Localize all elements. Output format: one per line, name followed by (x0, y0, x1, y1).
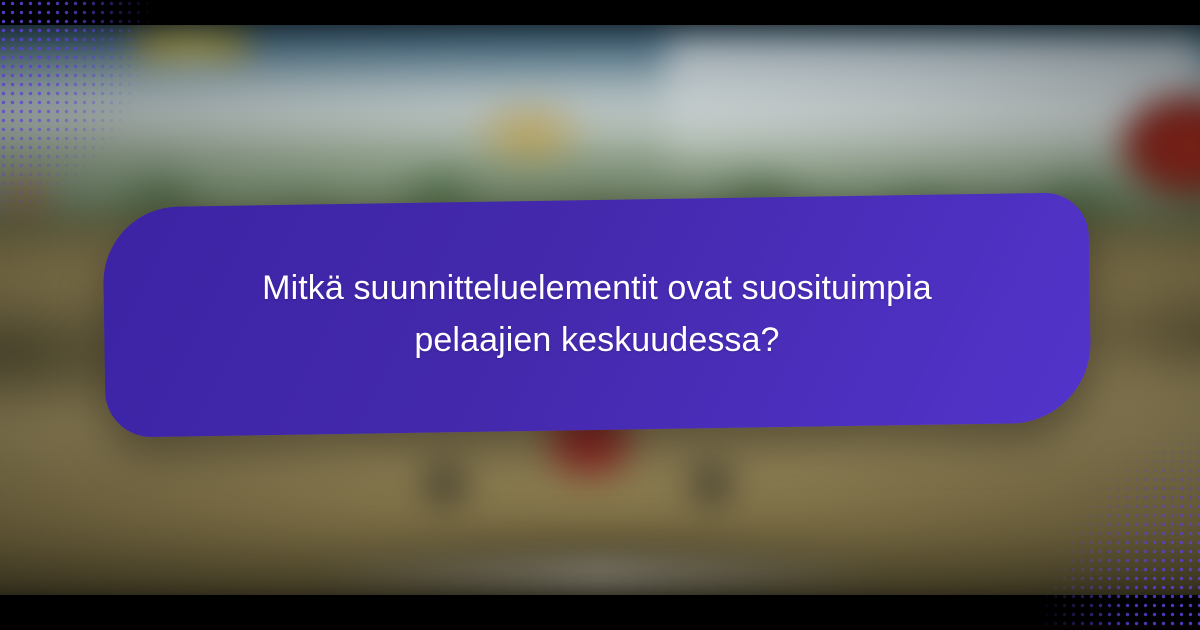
scene-kart-wheel-right (680, 452, 742, 514)
scene-yellow-banner (134, 31, 248, 58)
letterbox-bar-bottom (0, 595, 1200, 630)
scene-orange-structure (467, 97, 592, 170)
scene-kart-wheel-left (414, 452, 476, 514)
letterbox-bar-top (0, 0, 1200, 25)
og-image-canvas: Mitkä suunnitteluelementit ovat suositui… (0, 0, 1200, 630)
scene-red-vehicle-right (1081, 67, 1200, 223)
scene-track-kerb (307, 566, 893, 583)
question-card: Mitkä suunnitteluelementit ovat suositui… (102, 192, 1091, 437)
scene-orange-blob-left (0, 174, 60, 216)
question-text: Mitkä suunnitteluelementit ovat suositui… (197, 263, 997, 366)
